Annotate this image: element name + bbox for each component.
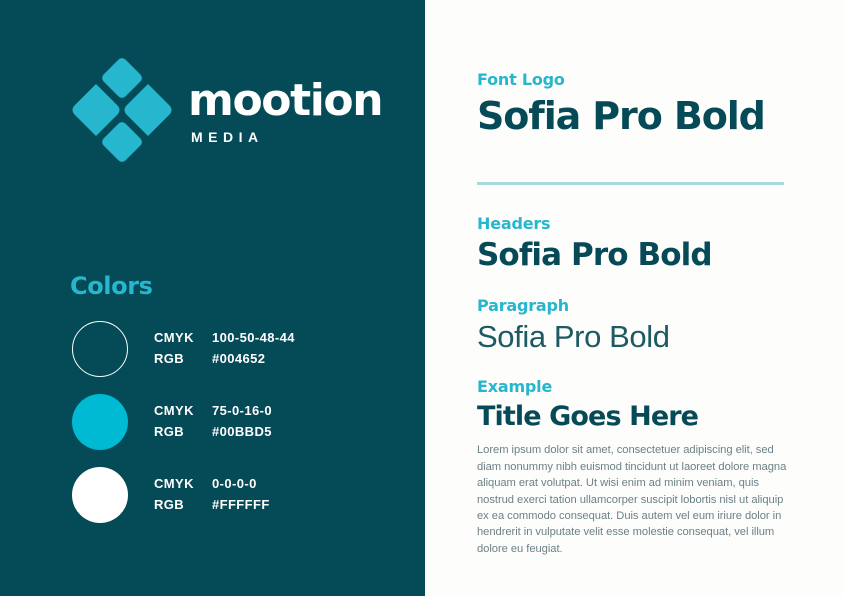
rgb-label: RGB <box>154 348 212 369</box>
logo-sub-wordmark: MEDIA <box>191 130 382 144</box>
headers-label: Headers <box>477 216 807 232</box>
rgb-value: #00BBD5 <box>212 421 272 442</box>
example-title: Title Goes Here <box>477 403 807 431</box>
logo-lockup: mootion MEDIA <box>70 58 382 162</box>
cmyk-value: 0-0-0-0 <box>212 473 257 494</box>
paragraph-label: Paragraph <box>477 298 807 314</box>
example-body-text: Lorem ipsum dolor sit amet, consectetuer… <box>477 442 795 557</box>
right-panel: Font Logo Sofia Pro Bold Headers Sofia P… <box>425 0 843 596</box>
color-swatch-circle <box>72 321 128 377</box>
mootion-diamond-mark-icon <box>70 58 174 162</box>
rgb-label: RGB <box>154 494 212 515</box>
example-label: Example <box>477 379 807 395</box>
example-block: Example Title Goes Here Lorem ipsum dolo… <box>477 379 807 557</box>
logo-wordmark: mootion <box>188 79 382 123</box>
cmyk-value: 75-0-16-0 <box>212 400 272 421</box>
headers-sample: Sofia Pro Bold <box>477 239 807 272</box>
color-swatch-circle <box>72 467 128 523</box>
color-swatch-specs: CMYK 75-0-16-0 RGB #00BBD5 <box>154 400 272 442</box>
section-divider <box>477 182 784 185</box>
color-swatch-circle <box>72 394 128 450</box>
brand-style-guide: mootion MEDIA Colors CMYK 100-50-48-44 R… <box>0 0 843 596</box>
font-logo-block: Font Logo Sofia Pro Bold <box>477 72 807 137</box>
rgb-value: #FFFFFF <box>212 494 270 515</box>
left-panel: mootion MEDIA Colors CMYK 100-50-48-44 R… <box>0 0 425 596</box>
paragraph-sample: Sofia Pro Bold <box>477 321 807 354</box>
colors-heading: Colors <box>70 274 153 298</box>
color-swatch-list: CMYK 100-50-48-44 RGB #004652 CMYK 75-0-… <box>72 321 402 540</box>
rgb-label: RGB <box>154 421 212 442</box>
color-swatch-row: CMYK 0-0-0-0 RGB #FFFFFF <box>72 467 402 540</box>
paragraph-block: Paragraph Sofia Pro Bold <box>477 298 807 354</box>
color-swatch-row: CMYK 75-0-16-0 RGB #00BBD5 <box>72 394 402 467</box>
cmyk-value: 100-50-48-44 <box>212 327 295 348</box>
headers-block: Headers Sofia Pro Bold <box>477 216 807 272</box>
logo-text-group: mootion MEDIA <box>188 77 382 144</box>
rgb-value: #004652 <box>212 348 265 369</box>
cmyk-label: CMYK <box>154 473 212 494</box>
cmyk-label: CMYK <box>154 400 212 421</box>
color-swatch-specs: CMYK 100-50-48-44 RGB #004652 <box>154 327 295 369</box>
cmyk-label: CMYK <box>154 327 212 348</box>
color-swatch-row: CMYK 100-50-48-44 RGB #004652 <box>72 321 402 394</box>
font-logo-label: Font Logo <box>477 72 807 88</box>
color-swatch-specs: CMYK 0-0-0-0 RGB #FFFFFF <box>154 473 270 515</box>
font-logo-sample: Sofia Pro Bold <box>477 97 807 137</box>
